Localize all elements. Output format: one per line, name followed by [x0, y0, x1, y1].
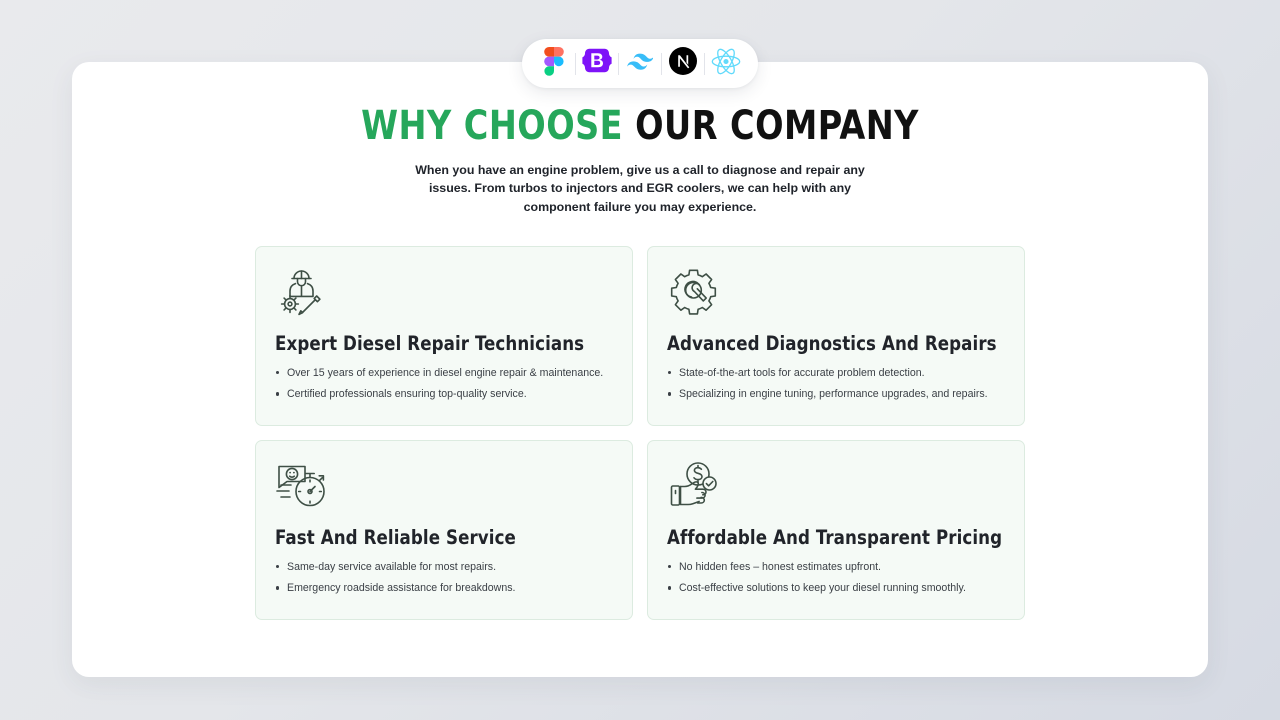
- figma-icon: [544, 47, 564, 81]
- feature-card[interactable]: Advanced Diagnostics And Repairs State-o…: [647, 246, 1025, 426]
- tool-react[interactable]: [705, 46, 747, 82]
- feature-card[interactable]: Fast And Reliable Service Same-day servi…: [255, 440, 633, 620]
- react-icon: [711, 48, 741, 80]
- feature-bullet-list: Same-day service available for most repa…: [275, 560, 613, 596]
- tailwind-icon: [627, 53, 653, 75]
- page-title-rest: [623, 103, 635, 149]
- feature-bullet: Specializing in engine tuning, performan…: [667, 387, 1005, 401]
- feature-bullet-list: State-of-the-art tools for accurate prob…: [667, 366, 1005, 402]
- page-description: When you have an engine problem, give us…: [405, 161, 875, 216]
- feature-bullet: Cost-effective solutions to keep your di…: [667, 581, 1005, 595]
- tool-nextjs[interactable]: [662, 46, 704, 82]
- bootstrap-icon: [582, 48, 612, 79]
- page-title: WHY CHOOSE OUR COMPANY: [112, 105, 1168, 147]
- page-title-rest-text: OUR COMPANY: [635, 103, 919, 149]
- page-title-highlight: WHY CHOOSE: [361, 103, 623, 149]
- engineer-gear-screwdriver-icon: [275, 267, 613, 319]
- tool-bootstrap[interactable]: [576, 46, 618, 82]
- feature-card-title: Affordable And Transparent Pricing: [667, 526, 988, 549]
- feature-bullet: Emergency roadside assistance for breakd…: [275, 581, 613, 595]
- feature-card-title: Fast And Reliable Service: [275, 526, 596, 549]
- feature-bullet: Over 15 years of experience in diesel en…: [275, 366, 613, 380]
- thumbs-up-dollar-check-icon: [667, 461, 1005, 513]
- feature-bullet: Certified professionals ensuring top-qua…: [275, 387, 613, 401]
- framework-toolbar: [522, 39, 758, 88]
- feature-bullet-list: Over 15 years of experience in diesel en…: [275, 366, 613, 402]
- feature-bullet: State-of-the-art tools for accurate prob…: [667, 366, 1005, 380]
- feature-bullet: Same-day service available for most repa…: [275, 560, 613, 574]
- nextjs-icon: [669, 47, 697, 80]
- tool-figma[interactable]: [533, 46, 575, 82]
- gear-wrench-icon: [667, 267, 1005, 319]
- feature-bullet: No hidden fees – honest estimates upfron…: [667, 560, 1005, 574]
- feature-card-grid: Expert Diesel Repair Technicians Over 15…: [255, 246, 1025, 620]
- feature-bullet-list: No hidden fees – honest estimates upfron…: [667, 560, 1005, 596]
- feature-card-title: Advanced Diagnostics And Repairs: [667, 332, 988, 355]
- feature-card-title: Expert Diesel Repair Technicians: [275, 332, 596, 355]
- content-panel: WHY CHOOSE OUR COMPANY When you have an …: [72, 62, 1208, 677]
- feature-card[interactable]: Affordable And Transparent Pricing No hi…: [647, 440, 1025, 620]
- feature-card[interactable]: Expert Diesel Repair Technicians Over 15…: [255, 246, 633, 426]
- chat-smiley-stopwatch-icon: [275, 461, 613, 513]
- tool-tailwind[interactable]: [619, 46, 661, 82]
